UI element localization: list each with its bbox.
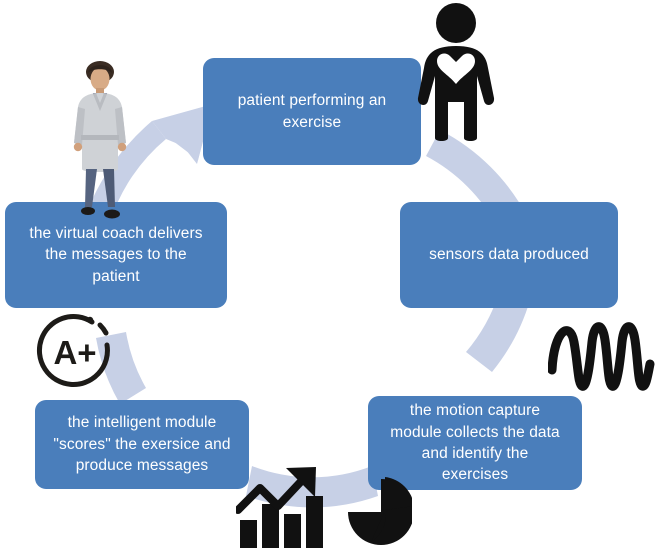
node-motion-line-2: module collects the data	[390, 422, 560, 443]
diagram-canvas: patient performing an exercise sensors d…	[0, 0, 661, 550]
node-patient-performing-exercise[interactable]: patient performing an exercise	[203, 58, 421, 165]
node-patient-line-2: exercise	[238, 112, 387, 133]
person-heart-icon	[404, 2, 508, 142]
waveform-icon	[548, 312, 660, 398]
node-motion-line-3: and identify the	[390, 443, 560, 464]
node-coach-line-3: patient	[29, 266, 202, 287]
node-motion-line-1: the motion capture	[390, 400, 560, 421]
node-intelligent-line-3: produce messages	[53, 455, 230, 476]
grade-a-plus-icon: A+	[34, 312, 120, 394]
node-intelligent-module[interactable]: the intelligent module "scores" the exer…	[35, 400, 249, 489]
node-intelligent-line-1: the intelligent module	[53, 412, 230, 433]
grade-a-plus-label: A+	[53, 334, 96, 371]
node-coach-line-2: the messages to the	[29, 244, 202, 265]
node-motion-line-4: exercises	[390, 464, 560, 485]
node-patient-line-1: patient performing an	[238, 90, 387, 111]
node-sensors-line-1: sensors data produced	[429, 244, 589, 265]
node-intelligent-line-2: "scores" the exersice and	[53, 434, 230, 455]
virtual-coach-figure-icon	[52, 57, 148, 229]
bar-chart-icon	[236, 466, 412, 550]
pie-chart-icon	[348, 477, 412, 545]
node-sensors-data-produced[interactable]: sensors data produced	[400, 202, 618, 308]
